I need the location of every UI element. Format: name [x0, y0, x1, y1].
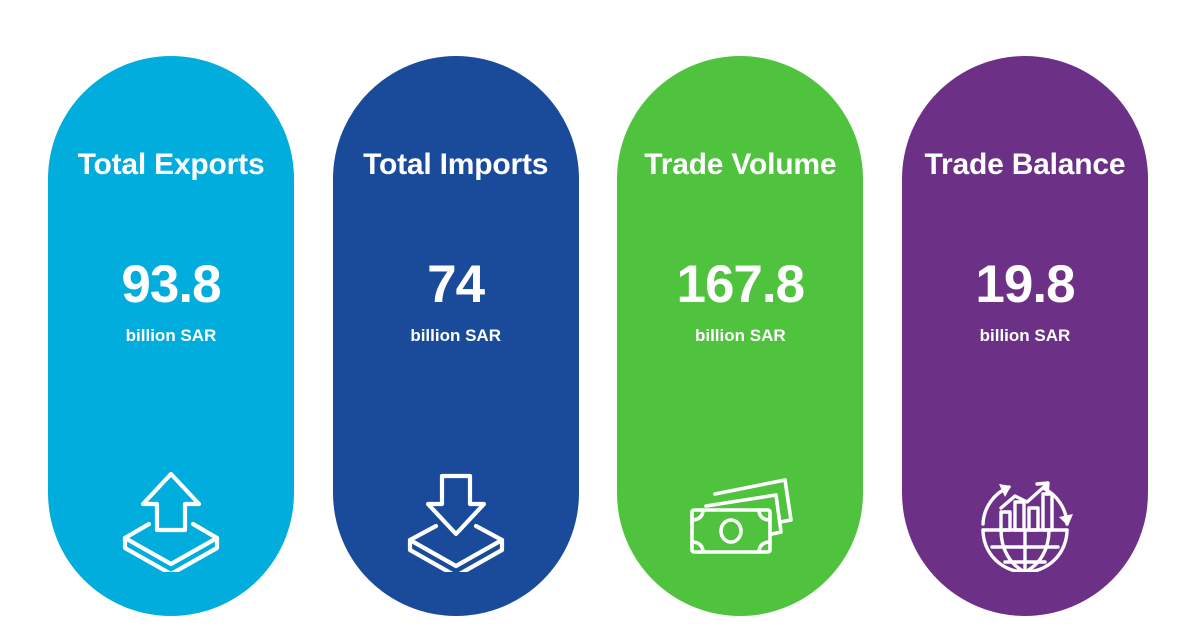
banknotes-stack-icon: [684, 468, 796, 572]
card-title: Trade Volume: [644, 150, 836, 180]
card-title: Total Imports: [363, 150, 548, 180]
card-value: 74: [427, 258, 484, 311]
card-value: 167.8: [676, 258, 804, 311]
stat-card-trade-balance: Trade Balance 19.8 billion SAR: [902, 56, 1148, 616]
import-arrow-down-platform-icon: [400, 468, 512, 572]
stat-card-total-imports: Total Imports 74 billion SAR: [333, 56, 579, 616]
stat-card-trade-volume: Trade Volume 167.8 billion SAR: [617, 56, 863, 616]
card-title: Trade Balance: [925, 150, 1126, 180]
trade-indicators-infographic: Total Exports 93.8 billion SAR Total Imp…: [0, 0, 1200, 628]
card-value: 93.8: [121, 258, 220, 311]
card-unit-label: billion SAR: [410, 327, 501, 344]
globe-bar-chart-arrows-icon: [969, 468, 1081, 572]
card-unit-label: billion SAR: [695, 327, 786, 344]
export-arrow-up-platform-icon: [115, 468, 227, 572]
card-title: Total Exports: [78, 150, 265, 180]
card-unit-label: billion SAR: [126, 327, 217, 344]
card-unit-label: billion SAR: [980, 327, 1071, 344]
stat-card-total-exports: Total Exports 93.8 billion SAR: [48, 56, 294, 616]
stat-cards-row: Total Exports 93.8 billion SAR Total Imp…: [48, 56, 1148, 616]
card-value: 19.8: [975, 258, 1074, 311]
